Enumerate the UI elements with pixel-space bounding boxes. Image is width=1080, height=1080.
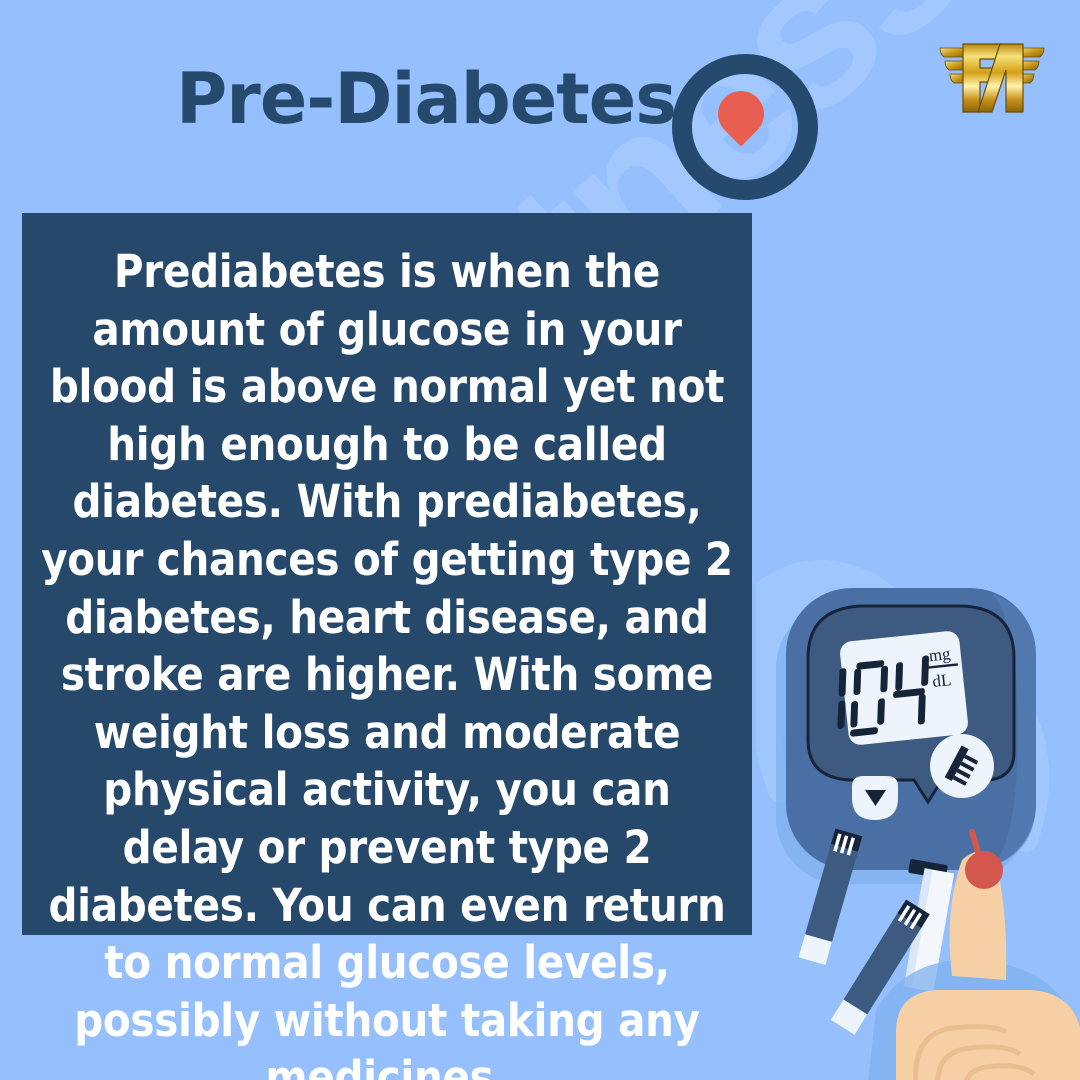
meter-button-down	[852, 776, 898, 820]
description-text: Prediabetes is when the amount of glucos…	[38, 243, 736, 1080]
header: Pre-Diabetes	[0, 22, 1080, 162]
fm-winged-logo	[922, 30, 1062, 126]
page-title: Pre-Diabetes	[176, 64, 676, 134]
meter-button-strip	[930, 734, 994, 798]
unit-denominator: dL	[931, 670, 952, 691]
description-panel: Prediabetes is when the amount of glucos…	[22, 213, 752, 935]
glucose-meter-illustration: mg dL	[756, 540, 1080, 1080]
blood-drop-icon	[662, 44, 808, 190]
unit-numerator: mg	[928, 644, 952, 665]
infographic-canvas: FitnessGraphs Pre-Diabetes	[0, 0, 1080, 1080]
